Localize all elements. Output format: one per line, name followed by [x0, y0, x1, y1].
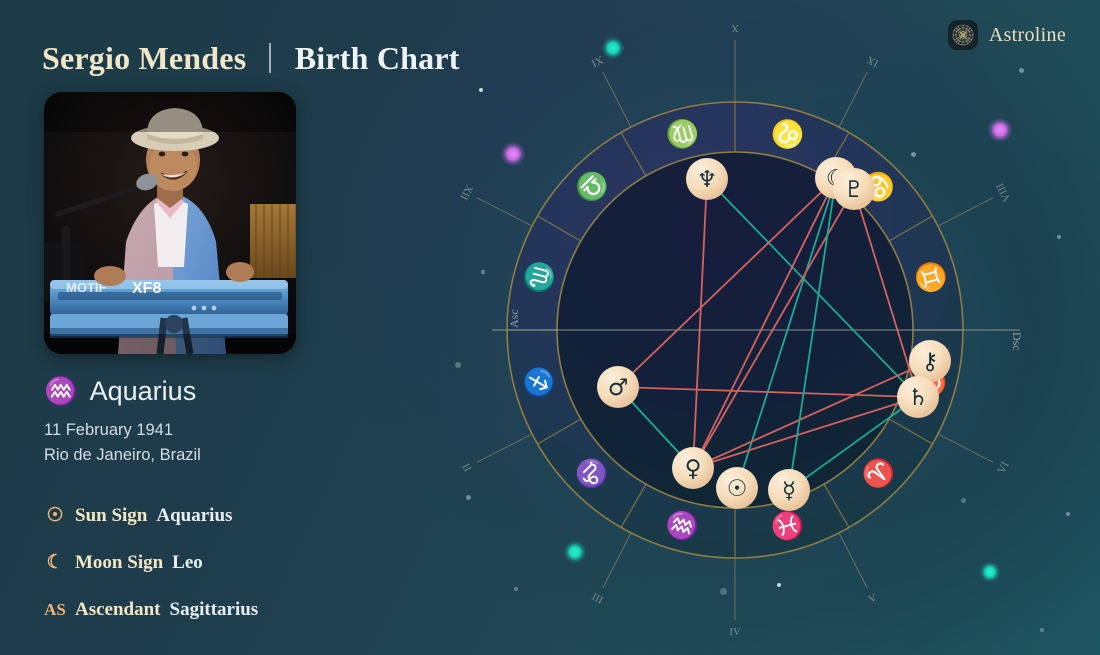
portrait-photo: MOTIF XF8: [44, 92, 296, 354]
natal-chart-wheel[interactable]: IIIIIIVVVIVIIIIXXXIXII ♐♑♒♓♈♉♊♋♌♍♎♏ Asc …: [460, 10, 1080, 645]
fact-value: Aquarius: [156, 505, 232, 527]
sun-icon: ☉: [44, 506, 66, 525]
planet-marker-mars[interactable]: ♂: [597, 366, 639, 408]
planet-marker-sun[interactable]: ☉: [716, 467, 758, 509]
fact-value: Sagittarius: [170, 599, 259, 621]
planet-glyph-neptune: ♆: [697, 167, 718, 193]
aquarius-icon: ♒: [44, 378, 78, 405]
page-subtitle: Birth Chart: [295, 40, 460, 76]
zodiac-sign-name: Aquarius: [90, 376, 197, 407]
birth-details: 11 February 1941 Rio de Janeiro, Brazil: [44, 418, 201, 468]
fact-ascendant: AS Ascendant Sagittarius: [44, 586, 258, 633]
planet-marker-venus[interactable]: ♀: [672, 447, 714, 489]
house-number-X: X: [731, 22, 739, 34]
fact-moon-sign: ☾ Moon Sign Leo: [44, 539, 258, 586]
planet-glyph-pluto: ♇: [844, 177, 865, 203]
planet-marker-neptune[interactable]: ♆: [686, 158, 728, 200]
planet-marker-saturn[interactable]: ♄: [897, 376, 939, 418]
planet-glyph-saturn: ♄: [908, 385, 929, 411]
planet-glyph-sun: ☉: [727, 476, 748, 502]
fact-label: Moon Sign: [75, 552, 163, 574]
planet-marker-chiron[interactable]: ⚷: [909, 340, 951, 382]
fact-label: Sun Sign: [75, 505, 147, 527]
planet-marker-pluto[interactable]: ♇: [833, 168, 875, 210]
title-divider: [269, 43, 271, 73]
fact-label: Ascendant: [75, 599, 161, 621]
planet-glyph-mars: ♂: [608, 375, 629, 401]
person-name: Sergio Mendes: [42, 40, 246, 76]
moon-icon: ☾: [44, 553, 66, 572]
ascendant-icon: AS: [44, 601, 66, 618]
planet-marker-mercury[interactable]: ☿: [768, 469, 810, 511]
planet-glyph-venus: ♀: [685, 456, 702, 482]
descendant-axis-label: Dsc: [1010, 332, 1024, 351]
birth-date: 11 February 1941: [44, 418, 201, 443]
zodiac-sign-line: ♒ Aquarius: [44, 376, 196, 407]
planet-glyph-chiron: ⚷: [922, 349, 939, 375]
svg-text:XF8: XF8: [132, 280, 161, 297]
page-title: Sergio Mendes Birth Chart: [42, 40, 460, 77]
fact-value: Leo: [172, 552, 203, 574]
birth-chart-page: Sergio Mendes Birth Chart Astroline: [0, 0, 1100, 655]
planet-glyph-mercury: ☿: [782, 478, 796, 504]
house-number-IV: IV: [729, 626, 741, 638]
fact-sun-sign: ☉ Sun Sign Aquarius: [44, 492, 258, 539]
chart-facts: ☉ Sun Sign Aquarius ☾ Moon Sign Leo AS A…: [44, 492, 258, 633]
birth-place: Rio de Janeiro, Brazil: [44, 443, 201, 468]
ascendant-axis-label: Asc: [507, 309, 521, 328]
